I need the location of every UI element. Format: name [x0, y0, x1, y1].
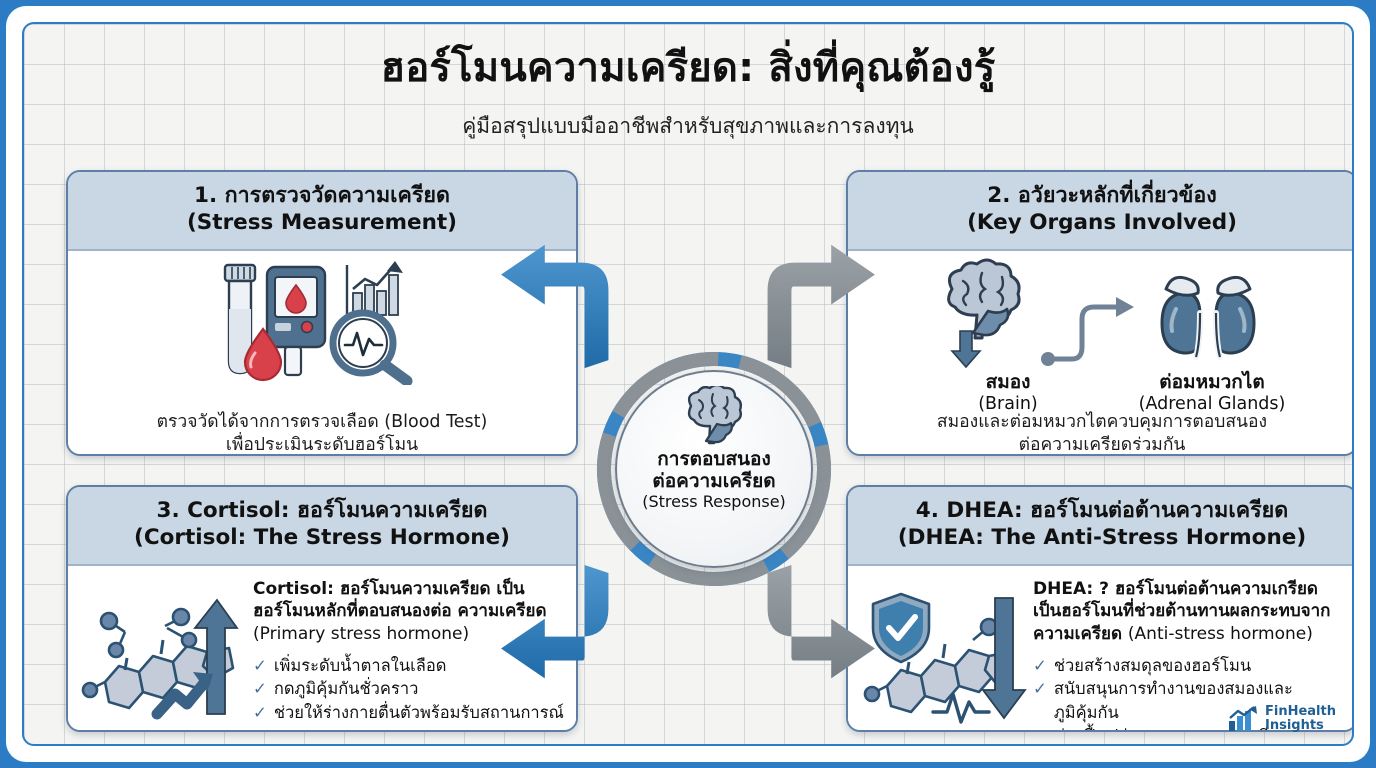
infographic-sheet: ฮอร์โมนความเครียด: สิ่งที่คุณต้องรู้ คู่…: [22, 22, 1354, 746]
arrow-to-card3: [501, 565, 608, 678]
brain-icon: [677, 386, 751, 446]
outer-frame: ฮอร์โมนความเครียด: สิ่งที่คุณต้องรู้ คู่…: [8, 8, 1368, 760]
hub-label-en: (Stress Response): [642, 493, 786, 512]
hub-label: การตอบสนอง ต่อความเครียด (Stress Respons…: [642, 448, 786, 512]
arrow-to-card1: [501, 245, 608, 368]
hub-stress-response: การตอบสนอง ต่อความเครียด (Stress Respons…: [615, 370, 813, 568]
